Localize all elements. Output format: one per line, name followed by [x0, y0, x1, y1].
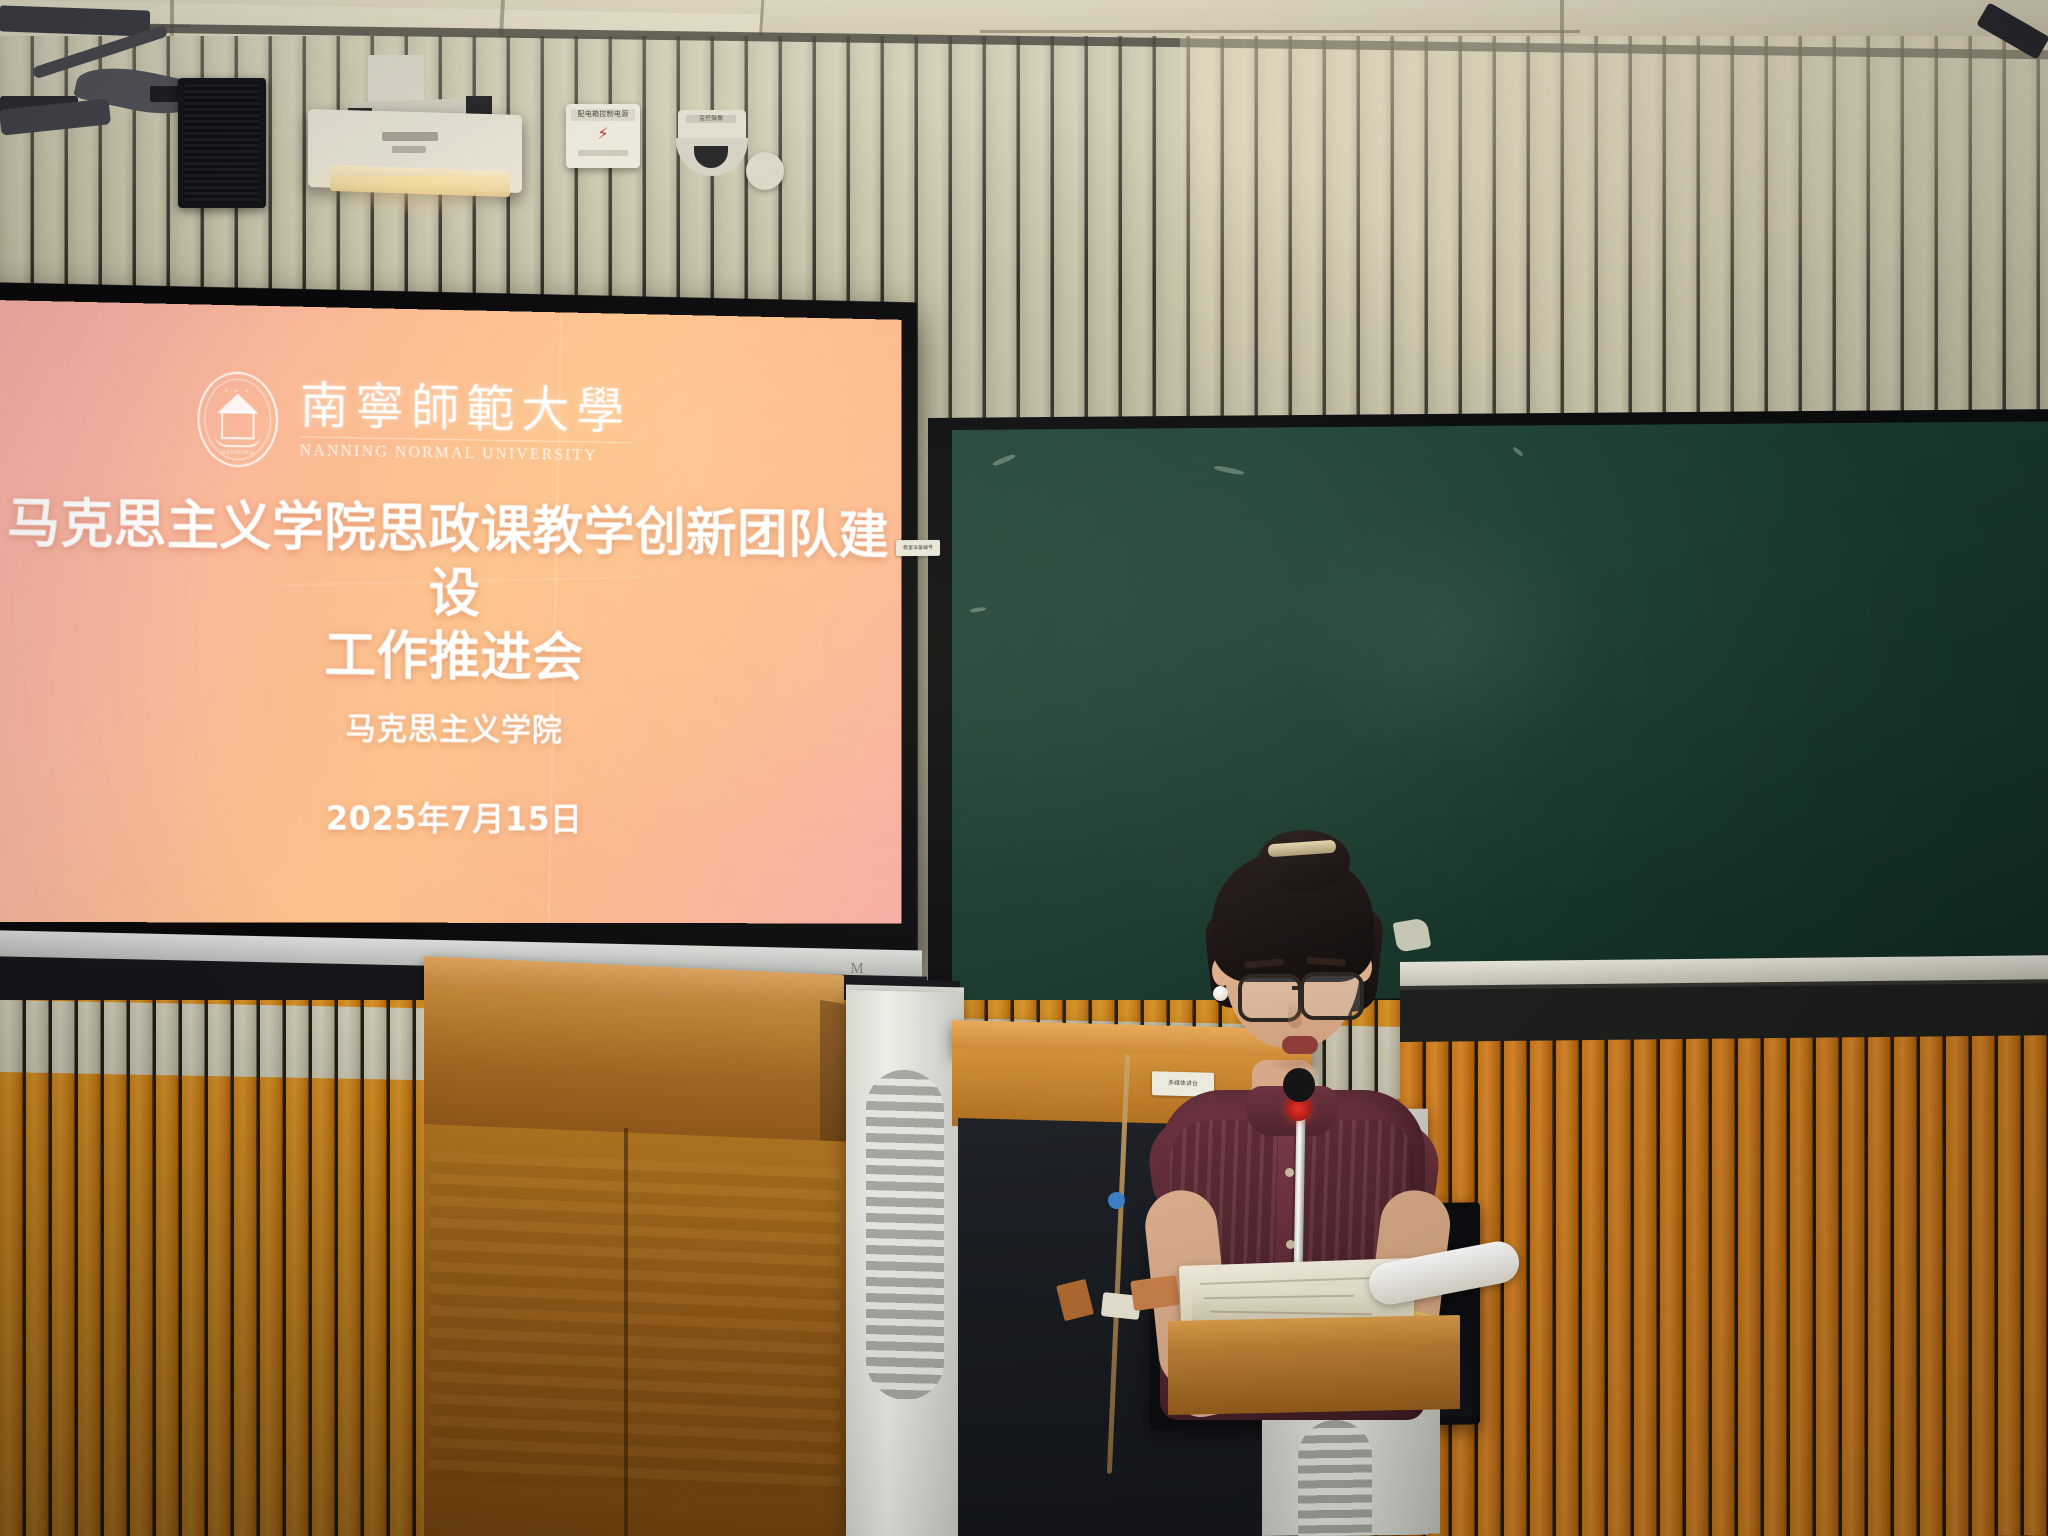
projector-badge [392, 146, 426, 153]
wall-control-box-label: 配电箱控制电源 [571, 109, 635, 121]
slide-title-line-2: 工作推进会 [0, 621, 902, 694]
slide-title: 马克思主义学院思政课教学创新团队建设 工作推进会 [0, 492, 902, 694]
seal-wave-shape [214, 432, 261, 447]
podium-asset-tag-text: 多媒体讲台 [1156, 1078, 1210, 1089]
university-logo: • • • NANNING 南寧師範大學 NANNING NORMAL UNIV… [197, 366, 653, 478]
seal-roof-shape [217, 393, 258, 414]
university-name-cn: 南寧師範大學 [300, 380, 631, 438]
screen-maker-mark: M [842, 958, 872, 981]
university-seal-icon: • • • NANNING [197, 371, 278, 468]
seal-dots: • • • [199, 386, 276, 394]
chalk-smudge [1282, 505, 1612, 768]
blackboard-asset-tag-text: 教室设备编号 [898, 543, 938, 553]
projector-vent [382, 132, 438, 141]
seal-arc-text: NANNING [199, 449, 276, 456]
seal-body-shape [221, 411, 254, 439]
camera-label: 监控摄像 [686, 115, 736, 123]
smoke-sensor-icon [746, 152, 784, 190]
slide: • • • NANNING 南寧師範大學 NANNING NORMAL UNIV… [0, 300, 902, 924]
wall-control-box-slot [578, 150, 628, 156]
lightning-bolt-icon: ⚡ [596, 126, 610, 144]
projection-screen[interactable]: • • • NANNING 南寧師範大學 NANNING NORMAL UNIV… [0, 300, 902, 924]
ceiling-mount-rail [0, 5, 150, 36]
cable-clip [1108, 1192, 1125, 1209]
speaker-grille-icon [184, 84, 260, 202]
taped-paper-scrap [1393, 917, 1432, 952]
screenshot-root: 配电箱控制电源 ⚡ 监控摄像 • • • NANNING 南寧師範大學 NANN… [0, 0, 2048, 1536]
wood-grain-texture [430, 1151, 840, 1498]
microphone-head-icon [1283, 1068, 1315, 1102]
slide-date: 2025年7月15日 [0, 790, 902, 842]
desk-object [1130, 1275, 1180, 1311]
wainscot-right-panel [1400, 1035, 2048, 1536]
university-logo-text: 南寧師範大學 NANNING NORMAL UNIVERSITY [300, 380, 631, 465]
plinth-grille-icon [1298, 1419, 1372, 1536]
projector-light-glow [300, 176, 532, 216]
wooden-table-seam [624, 1128, 628, 1536]
ceiling-seam [1560, 0, 1564, 40]
slide-organization: 马克思主义学院 [0, 700, 902, 752]
slide-title-line-1: 马克思主义学院思政课教学创新团队建设 [0, 492, 902, 632]
university-name-en: NANNING NORMAL UNIVERSITY [300, 436, 631, 465]
chalk-mark [970, 607, 986, 613]
chalk-mark [1214, 465, 1244, 476]
chalk-mark [992, 453, 1016, 467]
blackboard[interactable] [952, 421, 2048, 1002]
ceiling-seam [980, 30, 1580, 33]
chalk-mark [1512, 446, 1524, 457]
lectern-ledge-front [1168, 1347, 1460, 1415]
rack-speaker-grille-icon [866, 1069, 944, 1401]
